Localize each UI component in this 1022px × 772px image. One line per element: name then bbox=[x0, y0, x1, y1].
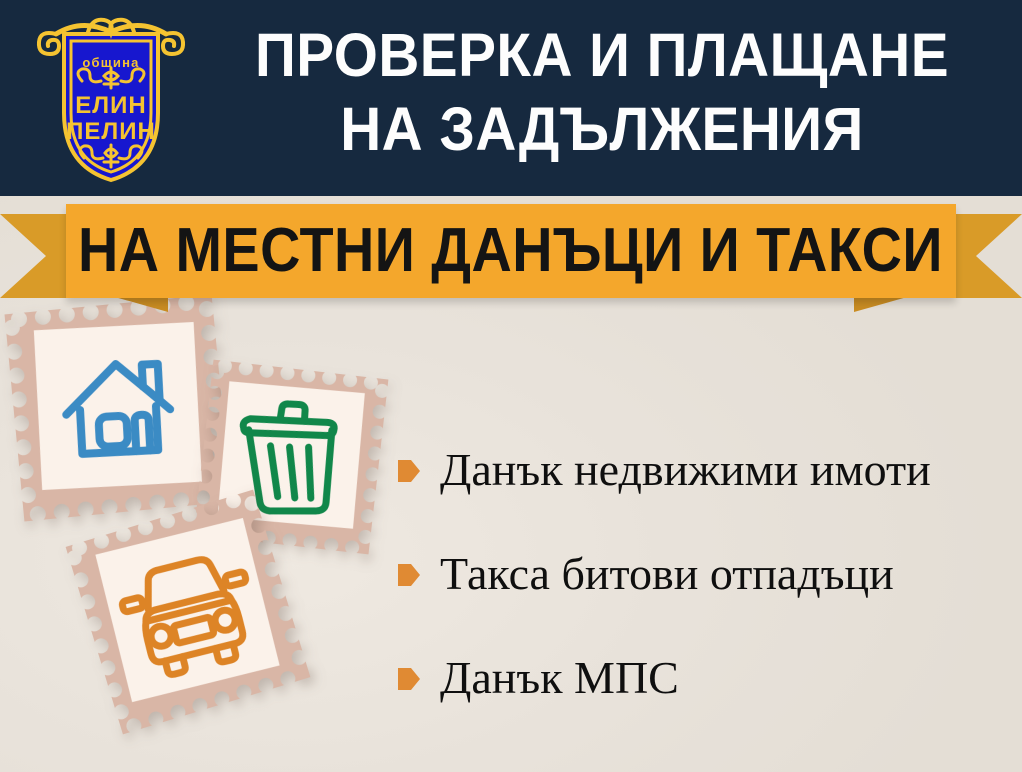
header-title-line-2: НА ЗАДЪЛЖЕНИЯ bbox=[224, 92, 979, 166]
header-title-line-1: ПРОВЕРКА И ПЛАЩАНЕ bbox=[224, 18, 979, 92]
stamp-card-house bbox=[5, 295, 232, 522]
tax-type-list: Данък недвижими имоти Такса битови отпад… bbox=[398, 418, 1012, 730]
arrow-bullet-icon bbox=[398, 562, 420, 588]
list-item-label: Данък недвижими имоти bbox=[440, 444, 931, 496]
list-item-label: Такса битови отпадъци bbox=[440, 548, 894, 600]
ribbon-main-panel: НА МЕСТНИ ДАНЪЦИ И ТАКСИ bbox=[66, 204, 956, 298]
list-item: Данък недвижими имоти bbox=[398, 418, 1012, 522]
ribbon-text: НА МЕСТНИ ДАНЪЦИ И ТАКСИ bbox=[79, 220, 944, 282]
stamp-group bbox=[0, 290, 420, 772]
poster: община ЕЛИН ПЕЛИН bbox=[0, 0, 1022, 772]
ribbon-banner: НА МЕСТНИ ДАНЪЦИ И ТАКСИ bbox=[0, 198, 1022, 310]
list-item: Такса битови отпадъци bbox=[398, 522, 1012, 626]
crest-name-line1: ЕЛИН bbox=[75, 92, 146, 119]
crest-name-line2: ПЕЛИН bbox=[66, 118, 156, 145]
header-title-block: ПРОВЕРКА И ПЛАЩАНЕ НА ЗАДЪЛЖЕНИЯ bbox=[196, 18, 1008, 166]
arrow-bullet-icon bbox=[398, 458, 420, 484]
municipality-crest: община ЕЛИН ПЕЛИН bbox=[26, 8, 196, 186]
list-item-label: Данък МПС bbox=[440, 652, 679, 704]
list-item: Данък МПС bbox=[398, 626, 1012, 730]
header-bar: община ЕЛИН ПЕЛИН bbox=[0, 0, 1022, 196]
arrow-bullet-icon bbox=[398, 666, 420, 692]
